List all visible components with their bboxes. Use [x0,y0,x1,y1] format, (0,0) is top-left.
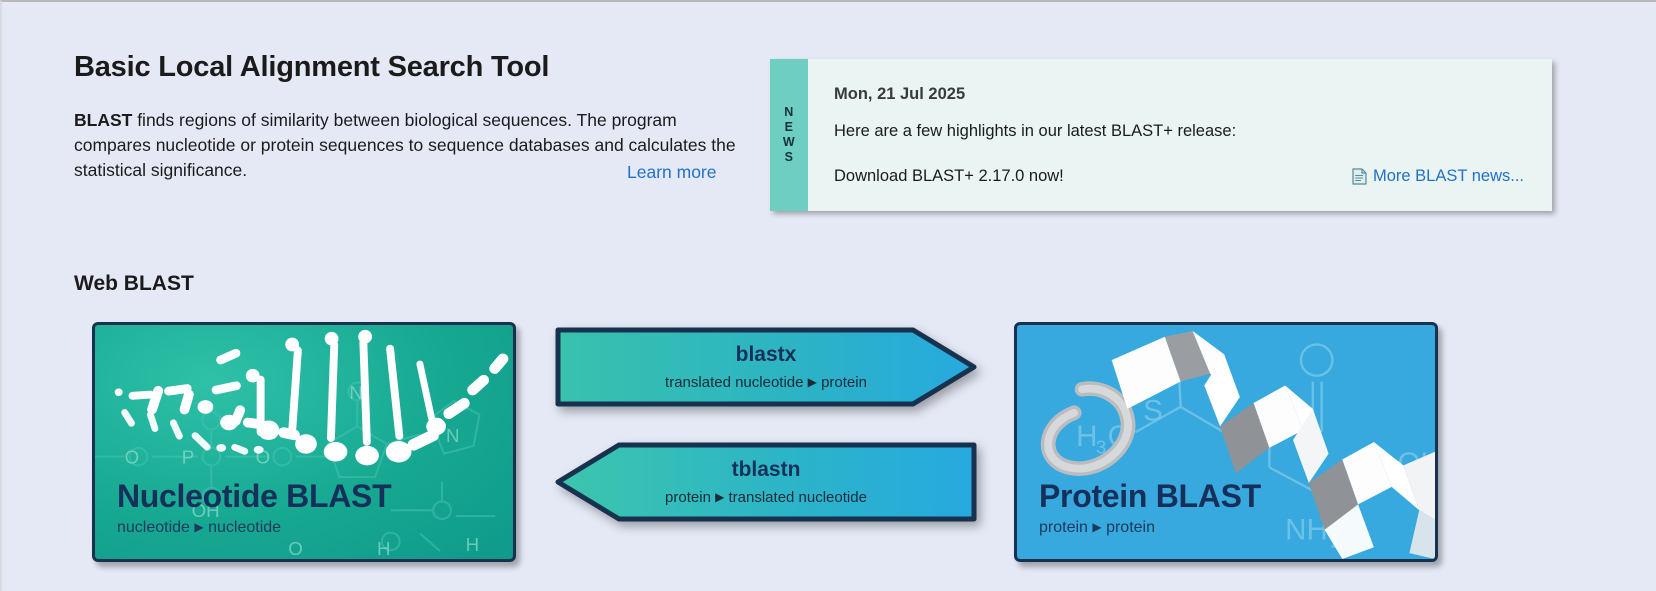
tile-blastx[interactable]: blastx translated nucleotide ▶ protein [554,324,978,410]
tile-protein-caption: Protein BLAST protein ▶ protein [1039,480,1261,537]
svg-text:H: H [377,538,391,559]
intro-block: Basic Local Alignment Search Tool BLAST … [74,52,754,182]
document-icon [1352,168,1367,185]
tile-nucleotide-caption: Nucleotide BLAST nucleotide ▶ nucleotide [117,480,391,537]
tile-tblastn[interactable]: tblastn protein ▶ translated nucleotide [554,439,978,525]
tile-nucleotide-blast[interactable]: OPO OH NN OHH [92,322,516,562]
svg-text:3: 3 [1096,437,1106,458]
news-footer: Download BLAST+ 2.17.0 now! More BLAST n… [834,167,1552,186]
tile-protein-title: Protein BLAST [1039,480,1261,514]
svg-text:2: 2 [1331,530,1341,551]
news-strip-label: NEWS [783,105,795,166]
svg-text:NH: NH [1285,514,1328,547]
news-strip: NEWS [770,59,808,211]
svg-text:H: H [1076,420,1097,453]
page-title: Basic Local Alignment Search Tool [74,52,754,84]
svg-text:O: O [125,447,140,468]
tile-nucleotide-from: nucleotide [117,519,190,536]
svg-text:O: O [288,538,303,559]
more-blast-news-link[interactable]: More BLAST news... [1352,167,1524,186]
svg-text:C: C [1108,420,1129,453]
more-blast-news-label: More BLAST news... [1373,167,1524,186]
svg-text:S: S [1143,395,1163,428]
svg-text:H: H [466,534,480,555]
news-body: Mon, 21 Jul 2025 Here are a few highligh… [808,59,1552,211]
news-download-line: Download BLAST+ 2.17.0 now! [834,167,1064,186]
svg-text:O: O [256,447,271,468]
tile-nucleotide-subtitle: nucleotide ▶ nucleotide [117,519,391,537]
tile-protein-subtitle: protein ▶ protein [1039,519,1261,537]
web-blast-heading: Web BLAST [74,272,194,296]
svg-text:P: P [182,447,194,468]
intro-paragraph: BLAST finds regions of similarity betwee… [74,108,754,183]
learn-more-link[interactable]: Learn more [627,160,717,185]
news-date: Mon, 21 Jul 2025 [834,85,1552,104]
svg-text:OH: OH [1398,447,1435,480]
tile-protein-blast[interactable]: H3C S OH NH2 [1014,322,1438,562]
intro-bold-term: BLAST [74,110,132,130]
svg-text:N: N [349,382,363,403]
tile-protein-from: protein [1039,519,1088,536]
tile-protein-to: protein [1106,519,1155,536]
arrow-right-icon: ▶ [1092,520,1101,534]
tile-nucleotide-to: nucleotide [208,519,281,536]
svg-text:N: N [446,425,460,446]
arrow-right-icon: ▶ [194,520,203,534]
blast-home-page: Basic Local Alignment Search Tool BLAST … [0,0,1656,591]
tile-nucleotide-title: Nucleotide BLAST [117,480,391,514]
news-headline: Here are a few highlights in our latest … [834,122,1552,141]
news-box: NEWS Mon, 21 Jul 2025 Here are a few hig… [770,59,1552,211]
